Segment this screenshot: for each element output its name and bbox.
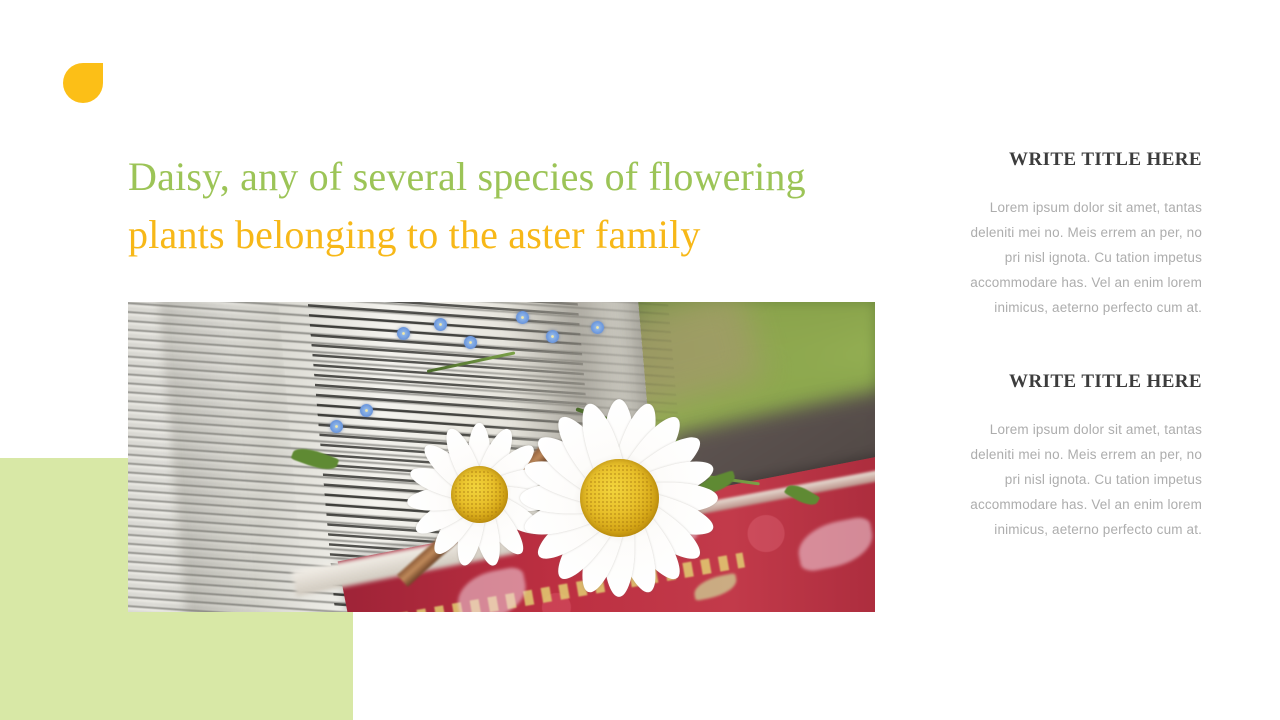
slide-photo bbox=[128, 302, 875, 612]
slide-headline: Daisy, any of several species of floweri… bbox=[128, 148, 888, 264]
forget-me-not-flower bbox=[591, 321, 604, 334]
daisy-center-disc bbox=[580, 459, 658, 537]
sidebar-block-1: Write Title Here Lorem ipsum dolor sit a… bbox=[960, 150, 1202, 320]
headline-line-1: Daisy, any of several species of floweri… bbox=[128, 148, 888, 206]
daisy-center-disc bbox=[451, 466, 508, 523]
sidebar-title-2: Write Title Here bbox=[960, 372, 1202, 393]
headline-line-2: plants belonging to the aster family bbox=[128, 206, 888, 264]
sidebar-text-column: Write Title Here Lorem ipsum dolor sit a… bbox=[960, 150, 1202, 594]
forget-me-not-flower bbox=[330, 420, 343, 433]
forget-me-not-flower bbox=[434, 318, 447, 331]
sidebar-body-1: Lorem ipsum dolor sit amet, tantas delen… bbox=[960, 195, 1202, 320]
cover-scroll-ornament bbox=[794, 516, 875, 574]
forget-me-not-flower bbox=[360, 404, 373, 417]
presentation-slide: Daisy, any of several species of floweri… bbox=[0, 0, 1280, 720]
daisy-flower-large bbox=[516, 395, 722, 601]
forget-me-not-flower bbox=[397, 327, 410, 340]
photo-composition bbox=[128, 302, 875, 612]
sidebar-body-2: Lorem ipsum dolor sit amet, tantas delen… bbox=[960, 417, 1202, 542]
sidebar-title-1: Write Title Here bbox=[960, 150, 1202, 171]
yellow-drop-shape-icon bbox=[63, 63, 103, 103]
sidebar-block-2: Write Title Here Lorem ipsum dolor sit a… bbox=[960, 372, 1202, 542]
